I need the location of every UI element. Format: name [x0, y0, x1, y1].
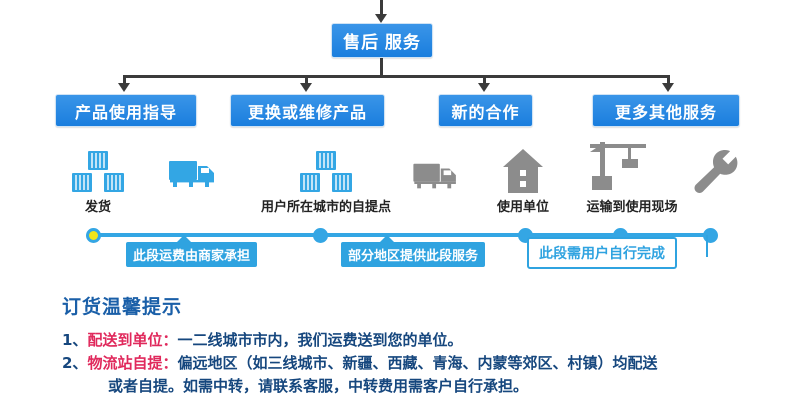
note-text: 偏远地区（如三线城市、新疆、西藏、青海、内蒙等郊区、村镇）均配送 [177, 354, 657, 372]
note-item-2: 2、物流站自提：偏远地区（如三线城市、新疆、西藏、青海、内蒙等郊区、村镇）均配送 [62, 352, 778, 375]
note-number: 2、 [62, 354, 87, 372]
flow-node-replace-or-repair[interactable]: 更换或维修产品 [230, 94, 385, 127]
note-highlight: 物流站自提： [87, 354, 177, 372]
flow-node-product-usage-guide[interactable]: 产品使用指导 [55, 94, 197, 127]
timeline-dot-1[interactable] [313, 228, 328, 243]
timeline-tag-merchant-pays: 此段运费由商家承担 [126, 242, 257, 267]
house-gray-icon [500, 148, 546, 199]
wrench-gray-icon [692, 148, 740, 199]
icon-label-5: 运输到使用现场 [572, 196, 692, 215]
note-number: 1、 [62, 331, 87, 349]
icon-label-2: 用户所在城市的自提点 [246, 196, 406, 215]
note-highlight: 配送到单位： [87, 331, 177, 349]
tag-text: 此段运费由商家承担 [133, 249, 250, 264]
tag-notch [379, 235, 395, 243]
tag-text: 部分地区提供此段服务 [348, 249, 478, 264]
timeline-dot-start[interactable] [86, 228, 101, 243]
arrow-into-root [375, 14, 387, 23]
order-notes-section: 订货温馨提示 1、配送到单位：一二线城市市内，我们运费送到您的单位。 2、物流站… [62, 292, 778, 398]
note-text: 或者自提。如需中转，请联系客服，中转费用需客户自行承担。 [108, 377, 528, 395]
note-item-2-continued: 或者自提。如需中转，请联系客服，中转费用需客户自行承担。 [62, 375, 778, 398]
containers-blue-icon [70, 150, 126, 199]
arrow-into-child-3 [662, 83, 674, 92]
note-text: 一二线城市市内，我们运费送到您的单位。 [177, 331, 462, 349]
flow-root-after-sales-service[interactable]: 售后 服务 [331, 23, 433, 58]
timeline-tag-bracket-right [706, 235, 708, 257]
connector-bus [124, 75, 670, 78]
flow-node-more-services[interactable]: 更多其他服务 [592, 94, 740, 127]
note-item-1: 1、配送到单位：一二线城市市内，我们运费送到您的单位。 [62, 329, 778, 352]
crane-gray-icon [578, 142, 650, 199]
connector-root-down [380, 56, 383, 77]
infographic-canvas: 售后 服务 产品使用指导 更换或维修产品 新的合作 更多其他服务 发货 [0, 0, 790, 412]
timeline-tag-partial-area-service: 部分地区提供此段服务 [341, 242, 485, 267]
notes-title: 订货温馨提示 [62, 292, 778, 319]
timeline-tag-user-self-handled: 此段需用户自行完成 [527, 237, 677, 269]
tag-notch [176, 235, 192, 243]
icon-label-0: 发货 [58, 196, 138, 215]
icon-label-4: 使用单位 [483, 196, 563, 215]
truck-blue-icon [168, 157, 220, 198]
truck-gray-icon [412, 160, 462, 199]
flow-node-new-cooperation[interactable]: 新的合作 [438, 94, 533, 127]
arrow-into-child-2 [478, 83, 490, 92]
arrow-into-child-1 [300, 83, 312, 92]
arrow-into-child-0 [118, 83, 130, 92]
containers-blue-icon [298, 150, 354, 199]
tag-text: 此段需用户自行完成 [539, 246, 665, 262]
